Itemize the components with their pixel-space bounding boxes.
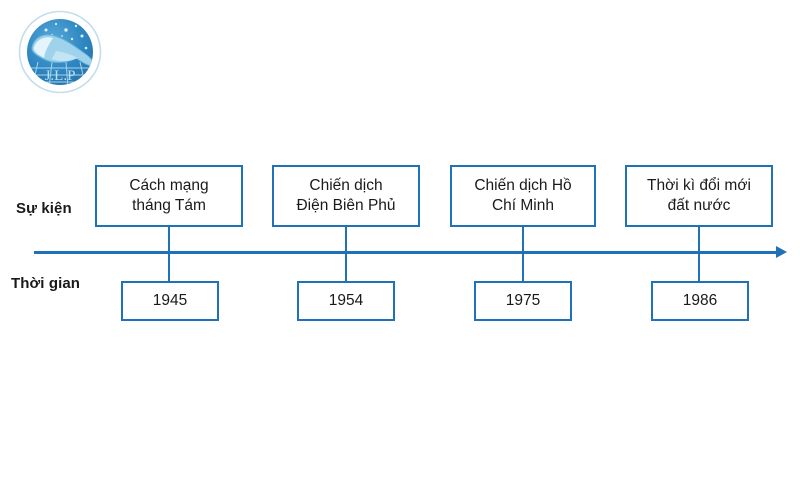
event-box-1-line2: tháng Tám: [132, 197, 206, 214]
row-label-time: Thời gian: [11, 275, 80, 292]
event-box-3-line2: Chí Minh: [492, 197, 554, 214]
event-box-2[interactable]: Chiến dịch Điện Biên Phủ: [272, 165, 420, 227]
year-box-2[interactable]: 1954: [297, 281, 395, 321]
event-box-1[interactable]: Cách mạng tháng Tám: [95, 165, 243, 227]
timeline-diagram: Sự kiện Thời gian Cách mạng tháng Tám Ch…: [0, 0, 800, 500]
row-label-events: Sự kiện: [16, 200, 72, 217]
event-box-1-line1: Cách mạng: [129, 177, 208, 194]
event-box-3-text: Chiến dịch Hồ Chí Minh: [474, 176, 571, 216]
event-box-4-text: Thời kì đổi mới đất nước: [647, 176, 751, 216]
event-box-2-line1: Chiến dịch: [309, 177, 382, 194]
event-box-1-text: Cách mạng tháng Tám: [129, 176, 208, 216]
event-box-4[interactable]: Thời kì đổi mới đất nước: [625, 165, 773, 227]
connector-line-3: [522, 227, 524, 281]
year-box-3[interactable]: 1975: [474, 281, 572, 321]
connector-line-1: [168, 227, 170, 281]
connector-line-2: [345, 227, 347, 281]
event-box-2-text: Chiến dịch Điện Biên Phủ: [296, 176, 395, 216]
event-box-3[interactable]: Chiến dịch Hồ Chí Minh: [450, 165, 596, 227]
event-box-3-line1: Chiến dịch Hồ: [474, 177, 571, 194]
timeline-arrow-icon: [776, 246, 787, 258]
event-box-2-line2: Điện Biên Phủ: [296, 197, 395, 214]
connector-line-4: [698, 227, 700, 281]
event-box-4-line1: Thời kì đổi mới: [647, 177, 751, 194]
event-box-4-line2: đất nước: [668, 197, 731, 214]
year-box-1[interactable]: 1945: [121, 281, 219, 321]
year-box-4[interactable]: 1986: [651, 281, 749, 321]
timeline-axis-line: [34, 251, 779, 254]
